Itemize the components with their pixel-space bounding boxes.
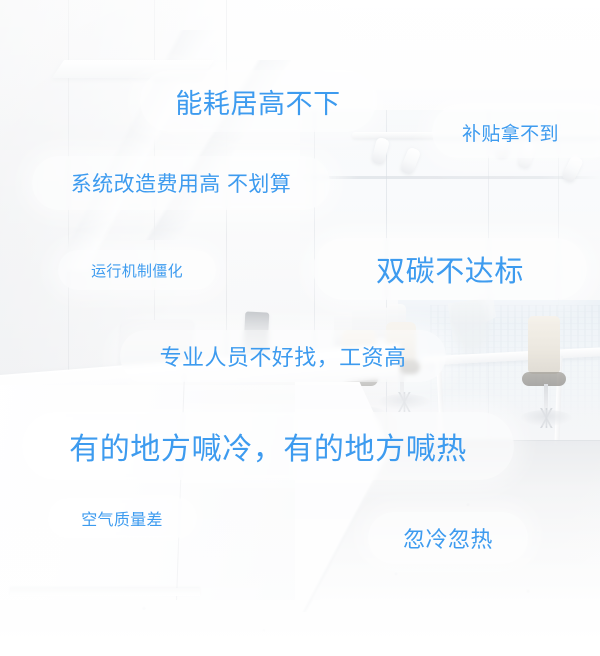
reception-desk-kick bbox=[10, 588, 200, 596]
badge-label: 专业人员不好找，工资高 bbox=[160, 340, 407, 372]
badge-subsidy[interactable]: 补贴拿不到 bbox=[432, 106, 600, 158]
badge-hot-cold-swings[interactable]: 忽冷忽热 bbox=[368, 512, 528, 564]
badge-label: 忽冷忽热 bbox=[403, 522, 493, 554]
badge-rigid-operation[interactable]: 运行机制僵化 bbox=[58, 250, 216, 290]
chair-back bbox=[528, 316, 560, 374]
badge-retrofit-cost[interactable]: 系统改造费用高 不划算 bbox=[32, 156, 330, 210]
badge-label: 运行机制僵化 bbox=[91, 260, 183, 281]
chair-base bbox=[520, 410, 572, 426]
badge-label: 系统改造费用高 不划算 bbox=[71, 168, 291, 198]
badge-label: 空气质量差 bbox=[81, 506, 163, 530]
glass-partition-rail bbox=[300, 176, 600, 179]
badge-dual-carbon[interactable]: 双碳不达标 bbox=[313, 238, 587, 300]
pain-point-banner: 能耗居高不下 补贴拿不到 系统改造费用高 不划算 运行机制僵化 双碳不达标 专业… bbox=[0, 0, 600, 656]
badge-label: 补贴拿不到 bbox=[462, 119, 559, 146]
badge-uneven-temperature[interactable]: 有的地方喊冷，有的地方喊热 bbox=[22, 412, 514, 480]
badge-label: 双碳不达标 bbox=[376, 248, 524, 290]
badge-label: 能耗居高不下 bbox=[175, 82, 340, 121]
badge-air-quality[interactable]: 空气质量差 bbox=[48, 498, 196, 538]
chair-base bbox=[378, 394, 430, 410]
badge-energy-consumption[interactable]: 能耗居高不下 bbox=[140, 70, 376, 132]
badge-label: 有的地方喊冷，有的地方喊热 bbox=[69, 424, 467, 468]
badge-staffing[interactable]: 专业人员不好找，工资高 bbox=[120, 330, 446, 382]
